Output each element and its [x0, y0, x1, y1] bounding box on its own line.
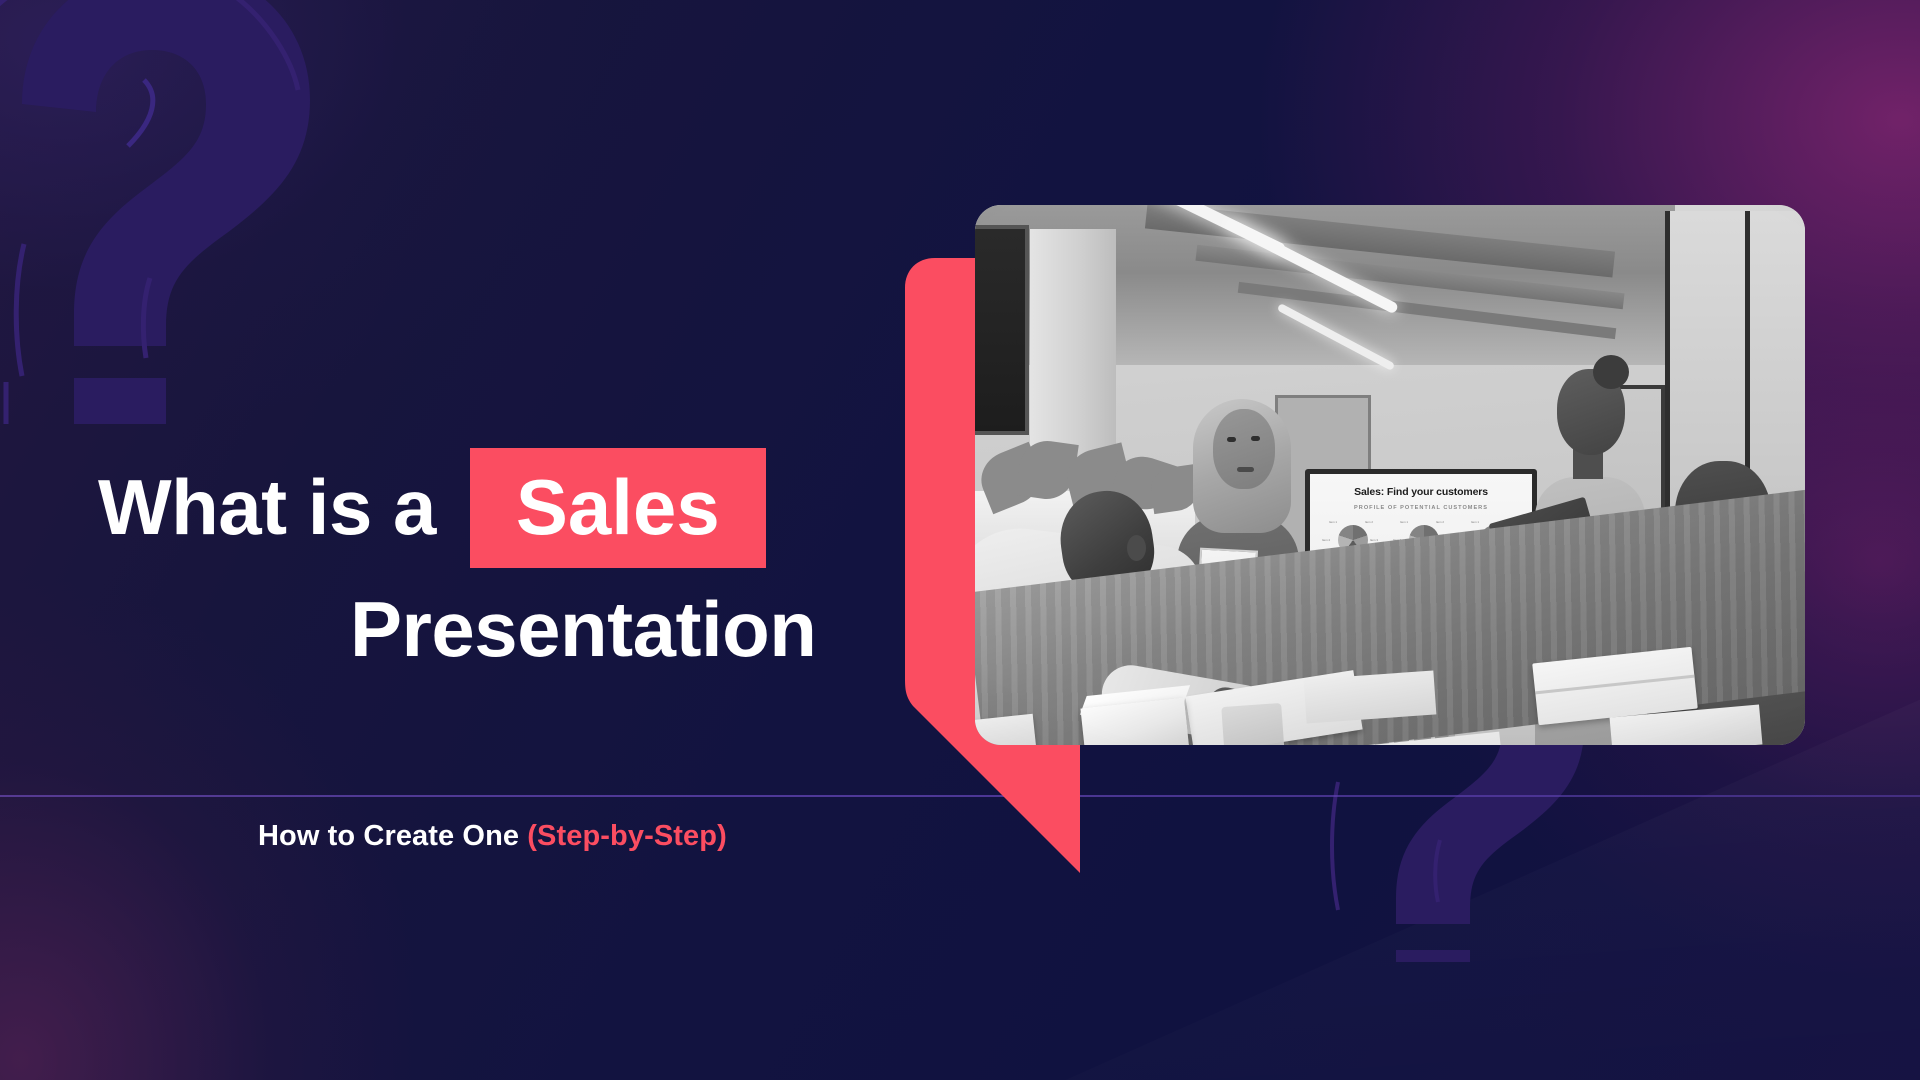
subtitle: How to Create One (Step-by-Step)	[258, 820, 727, 853]
hero-photo: Sales: Find your customers PROFILE OF PO…	[975, 205, 1805, 745]
hero-banner: What is a Sales Presentation How to Crea…	[0, 0, 1920, 1080]
subtitle-accent: (Step-by-Step)	[527, 820, 727, 852]
subtitle-plain: How to Create One	[258, 820, 527, 852]
photo-vignette	[975, 205, 1805, 745]
question-mark-icon	[0, 0, 334, 424]
headline-highlight-sales: Sales	[470, 448, 766, 568]
headline-line2-text: Presentation	[350, 590, 878, 670]
page-title: What is a Sales Presentation	[98, 448, 878, 670]
headline-line1-text: What is a	[98, 468, 436, 548]
